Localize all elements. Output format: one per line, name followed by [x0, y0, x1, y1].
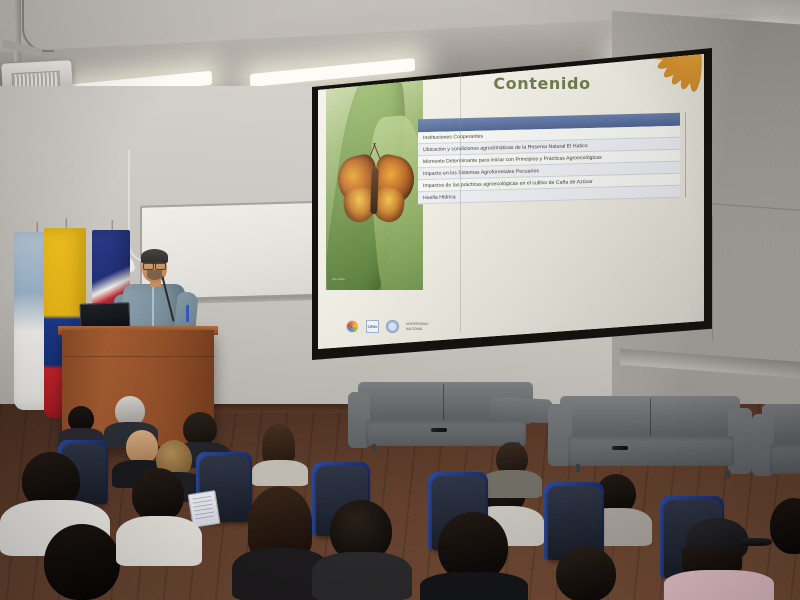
- projection-screen: foto crédito Contenido Instituciones Coo…: [318, 54, 704, 349]
- university-logo-label: UNIVERSIDAD NACIONAL: [406, 322, 440, 330]
- presenter-pen: [186, 305, 189, 322]
- projector-mount: [14, 0, 21, 62]
- photo-caption: foto crédito: [332, 278, 412, 282]
- attendee-shoulders: [116, 516, 202, 566]
- sofa-seat: [568, 436, 734, 466]
- attendee-shoulders: [420, 572, 528, 600]
- attendee-head: [556, 546, 616, 600]
- sofa-leg: [576, 464, 580, 472]
- slide-logo-row: CIPAV UNIVERSIDAD NACIONAL: [346, 320, 440, 333]
- sofa-leg: [372, 444, 376, 452]
- presentation-room-photo: foto crédito Contenido Instituciones Coo…: [0, 0, 800, 600]
- glasses-icon: [143, 262, 166, 268]
- attendee-shoulders: [664, 570, 774, 600]
- sofa-microphone: [431, 428, 447, 432]
- slide-contents-table: Instituciones Cooperantes Ubicación y co…: [418, 113, 680, 204]
- hanging-cord: [128, 150, 146, 262]
- sofa-cushion-divider: [650, 398, 651, 436]
- notebook-lines: [192, 496, 215, 523]
- attendee-shoulders: [482, 470, 542, 498]
- attendee-head: [44, 524, 120, 600]
- presenter-beard: [147, 270, 162, 280]
- attendee-shoulders: [312, 552, 412, 600]
- podium-seam: [62, 356, 214, 357]
- sofa-leg: [726, 470, 730, 478]
- butterfly-on-leaf-photo: foto crédito: [326, 76, 423, 290]
- sunflower-emblem-logo: [346, 320, 359, 333]
- university-seal-logo: [386, 320, 399, 333]
- table-right-rail: [685, 113, 686, 198]
- cap-brim: [742, 538, 772, 546]
- attendee-head: [132, 468, 184, 522]
- sofa-seat: [366, 420, 526, 446]
- attendee-head: [183, 412, 217, 446]
- attendee-shoulders: [252, 460, 308, 486]
- institution-square-logo: CIPAV: [366, 320, 379, 333]
- sofa-microphone: [612, 446, 628, 450]
- attendee-head: [126, 430, 158, 464]
- screen-seam: [460, 52, 461, 332]
- wall-panel-seam: [712, 215, 713, 340]
- sofa-cushion-divider: [443, 384, 444, 420]
- presentation-slide: foto crédito Contenido Instituciones Coo…: [318, 54, 704, 349]
- sofa-seat: [770, 444, 800, 474]
